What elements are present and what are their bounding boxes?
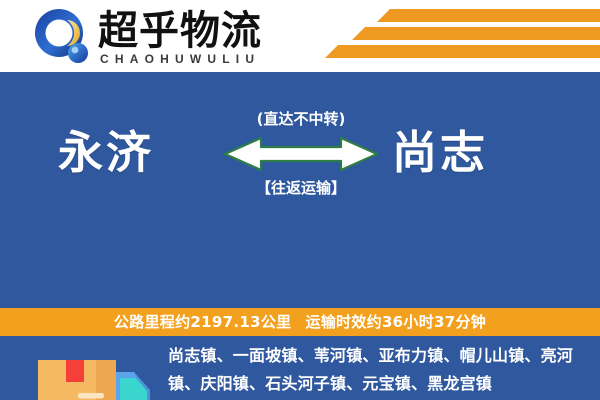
route-info-bar: 公路里程约2197.13公里运输时效约36小时37分钟 [0, 308, 600, 336]
info-bar-text: 公路里程约2197.13公里运输时效约36小时37分钟 [114, 312, 486, 332]
main-panel: 永济 (直达不中转) 【往返运输】 尚志 公路里程约2197.13公里运输时效约… [0, 72, 600, 400]
brand-name-en: CHAOHUWULIU [100, 52, 260, 66]
round-trip-note: 【往返运输】 [215, 178, 387, 198]
stripe-3 [338, 45, 600, 58]
stripe-1 [390, 9, 600, 22]
decorative-stripes [330, 6, 600, 66]
double-headed-arrow-icon [221, 134, 381, 179]
distance-text: 公路里程约2197.13公里 [114, 313, 292, 331]
header: 超乎物流 CHAOHUWULIU [0, 0, 600, 72]
route-arrow-group: (直达不中转) 【往返运输】 [215, 110, 387, 225]
brand-name-cn: 超乎物流 [98, 9, 262, 53]
route-display: 永济 (直达不中转) 【往返运输】 尚志 [0, 72, 600, 232]
origin-city: 永济 [58, 125, 154, 181]
direct-shipping-note: (直达不中转) [215, 110, 387, 128]
destination-city: 尚志 [392, 125, 488, 181]
delivery-truck-icon [30, 346, 160, 400]
circle-crescent-logo-icon [33, 8, 93, 66]
service-towns-list: 尚志镇、一面坡镇、苇河镇、亚布力镇、帽儿山镇、亮河镇、庆阳镇、石头河子镇、元宝镇… [168, 342, 580, 398]
logistics-route-banner: 超乎物流 CHAOHUWULIU 永济 (直达不中转) 【往返运输】 尚志 [0, 0, 600, 400]
duration-text: 运输时效约36小时37分钟 [305, 313, 486, 331]
service-towns-section: 尚志镇、一面坡镇、苇河镇、亚布力镇、帽儿山镇、亮河镇、庆阳镇、石头河子镇、元宝镇… [0, 336, 600, 400]
stripe-2 [365, 27, 600, 40]
